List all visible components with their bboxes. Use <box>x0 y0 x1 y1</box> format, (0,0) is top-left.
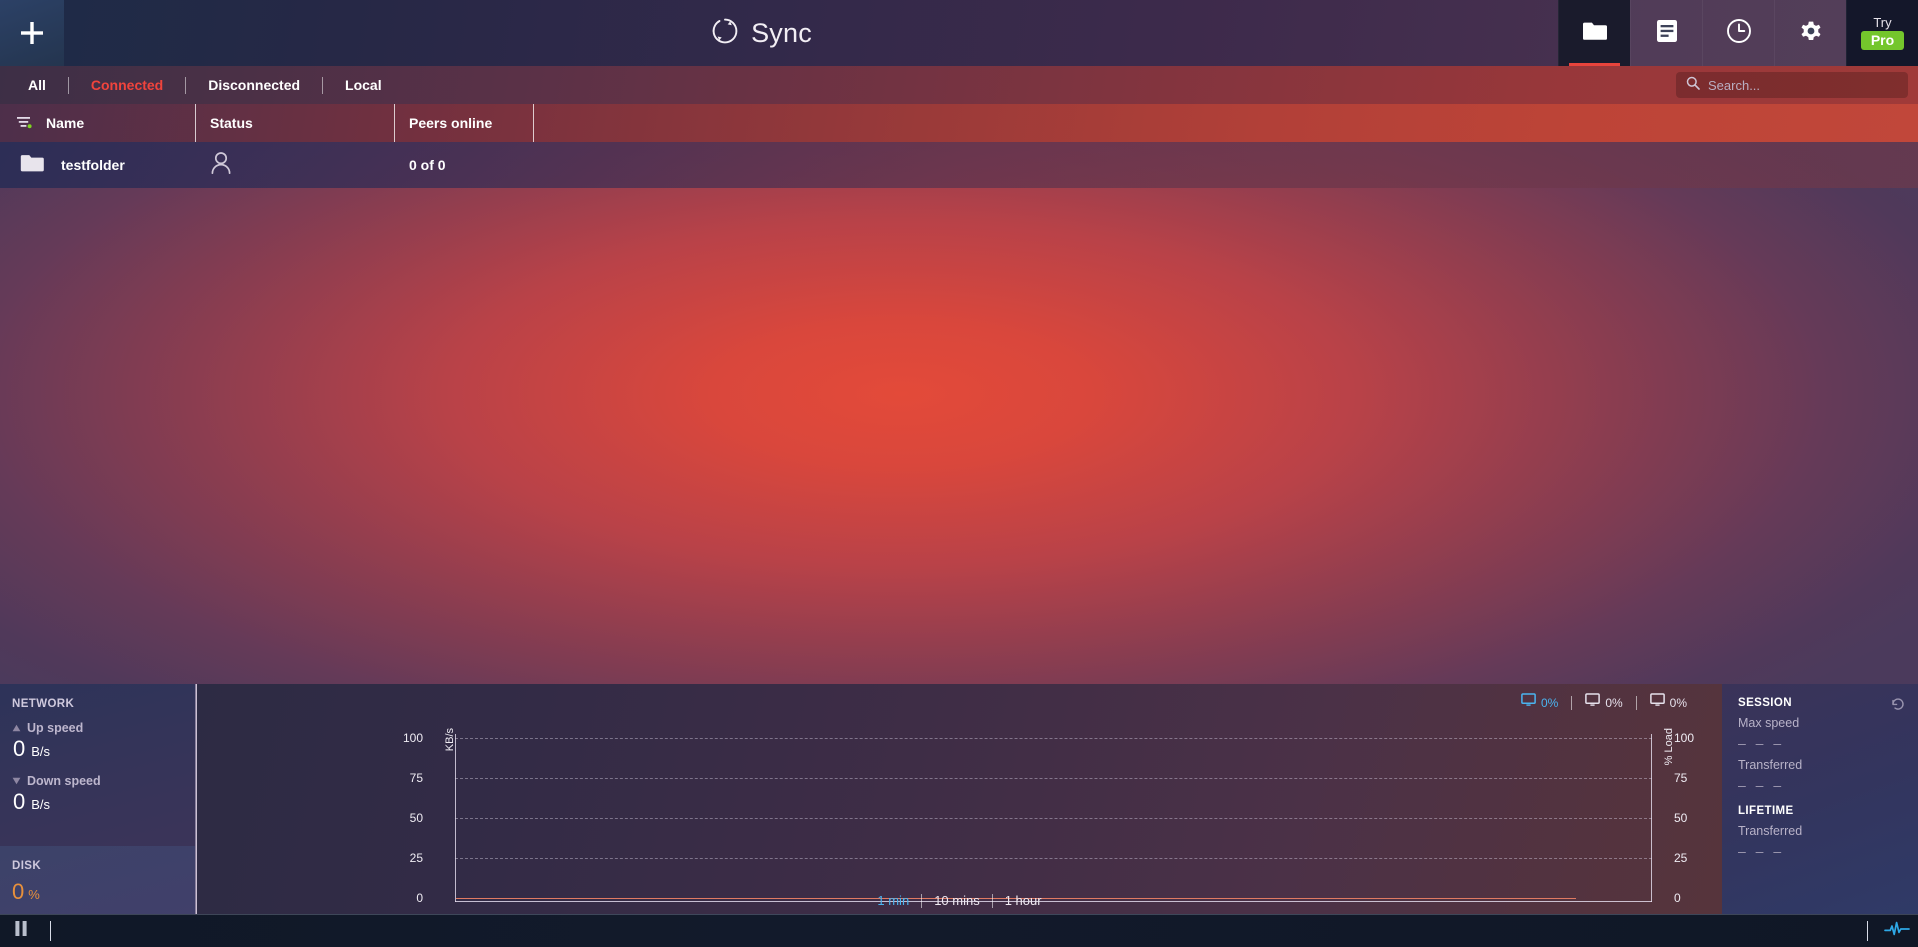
folder-icon <box>1582 20 1607 46</box>
pause-button[interactable] <box>0 915 42 947</box>
person-icon <box>210 151 232 180</box>
lifetime-transferred-label: Transferred <box>1738 824 1904 838</box>
filter-connected[interactable]: Connected <box>69 78 185 92</box>
chart-ytick-right-50: 50 <box>1674 811 1710 825</box>
status-bar-separator <box>1867 921 1868 941</box>
column-header-filler <box>534 104 1918 142</box>
chart-gridline <box>455 738 1652 739</box>
tab-devices[interactable] <box>1630 0 1702 66</box>
down-speed-unit: B/s <box>31 797 50 812</box>
search-input[interactable] <box>1708 78 1898 93</box>
column-header-status[interactable]: Status <box>196 104 395 142</box>
chart-ytick-right-25: 25 <box>1674 851 1710 865</box>
cpu-meter-2[interactable]: 0% <box>1572 693 1635 712</box>
filter-local[interactable]: Local <box>323 78 404 92</box>
disk-unit: % <box>28 887 40 902</box>
pause-icon <box>13 920 29 942</box>
column-header-name-label: Name <box>46 115 84 131</box>
chart-ytick-left-75: 75 <box>387 771 423 785</box>
up-speed-value: 0 B/s <box>12 738 181 760</box>
tab-folders[interactable] <box>1558 0 1630 66</box>
clock-icon <box>1726 18 1752 49</box>
session-title: SESSION <box>1738 697 1904 709</box>
pro-badge: Pro <box>1861 31 1904 50</box>
down-speed-value: 0 B/s <box>12 791 181 813</box>
session-panel: SESSION Max speed – – – Transferred – – … <box>1722 684 1918 914</box>
column-header-peers-label: Peers online <box>409 115 492 131</box>
sort-filter-icon[interactable] <box>16 115 32 132</box>
gear-icon <box>1798 18 1824 49</box>
status-bar-right-group <box>1859 915 1918 947</box>
cpu-meter-1[interactable]: 0% <box>1508 693 1571 712</box>
folder-list-header: Name Status Peers online <box>0 104 1918 142</box>
chart-ytick-left-25: 25 <box>387 851 423 865</box>
disk-title: DISK <box>12 860 181 872</box>
down-speed-row: Down speed <box>12 772 181 790</box>
disk-value: 0 % <box>12 881 181 903</box>
stats-strip: NETWORK Up speed 0 B/s Down speed <box>0 684 1918 914</box>
session-transferred-value: – – – <box>1738 777 1904 793</box>
table-row[interactable]: testfolder 0 of 0 <box>0 142 1918 188</box>
filter-bar: All Connected Disconnected Local <box>0 66 1918 104</box>
main-content-area: Name Status Peers online testfolder <box>0 104 1918 684</box>
reset-arrow-icon[interactable] <box>1890 696 1906 717</box>
column-header-peers-online[interactable]: Peers online <box>395 104 534 142</box>
folder-icon <box>20 153 45 178</box>
chart-ytick-right-75: 75 <box>1674 771 1710 785</box>
activity-graph-button[interactable] <box>1876 915 1918 947</box>
row-name-label: testfolder <box>61 157 125 173</box>
tab-history[interactable] <box>1702 0 1774 66</box>
cpu-meter-3-value: 0% <box>1670 696 1687 710</box>
up-speed-unit: B/s <box>31 744 50 759</box>
top-toolbar: Try Pro <box>1558 0 1918 66</box>
chart-right-axis <box>1651 734 1652 902</box>
session-max-speed-value: – – – <box>1738 735 1904 751</box>
disk-number: 0 <box>12 881 24 903</box>
row-name-cell: testfolder <box>0 153 196 178</box>
disk-section: DISK 0 % <box>0 846 195 914</box>
time-range-1hour[interactable]: 1 hour <box>993 893 1054 908</box>
up-speed-row: Up speed <box>12 719 181 737</box>
lifetime-transferred-value: – – – <box>1738 843 1904 859</box>
network-chart-panel: 0% 0% <box>196 684 1722 914</box>
triangle-down-icon <box>12 772 21 790</box>
session-transferred-label: Transferred <box>1738 758 1904 772</box>
filter-disconnected[interactable]: Disconnected <box>186 78 322 92</box>
network-title: NETWORK <box>12 698 181 710</box>
chart-gridline <box>455 818 1652 819</box>
session-spacer <box>1738 793 1904 805</box>
sync-circular-arrows-icon <box>710 16 740 51</box>
activity-graph-icon <box>1884 921 1910 942</box>
time-range-selector: 1 min 10 mins 1 hour <box>197 893 1722 908</box>
try-pro-button[interactable]: Try Pro <box>1846 0 1918 66</box>
sync-application-window: Sync <box>0 0 1918 947</box>
up-speed-label: Up speed <box>27 721 83 735</box>
app-brand: Sync <box>0 0 1558 66</box>
monitor-icon <box>1585 693 1600 712</box>
row-peers-online: 0 of 0 <box>395 157 534 173</box>
filter-group: All Connected Disconnected Local <box>0 77 404 94</box>
status-bar-separator <box>50 921 51 941</box>
column-header-status-label: Status <box>210 115 253 131</box>
chart-gridline <box>455 778 1652 779</box>
cpu-meter-1-value: 0% <box>1541 696 1558 710</box>
lifetime-title: LIFETIME <box>1738 805 1904 817</box>
status-bar <box>0 914 1918 947</box>
top-bar: Sync <box>0 0 1918 66</box>
try-pro-label: Try <box>1873 16 1891 29</box>
time-range-10mins[interactable]: 10 mins <box>922 893 992 908</box>
column-header-name[interactable]: Name <box>0 104 196 142</box>
down-speed-number: 0 <box>13 791 25 813</box>
down-speed-label: Down speed <box>27 774 101 788</box>
throughput-chart: KB/s % Load 100 75 50 25 0 100 75 50 25 … <box>197 716 1722 914</box>
app-title: Sync <box>751 18 812 49</box>
monitor-icon <box>1650 693 1665 712</box>
cpu-meters: 0% 0% <box>1508 693 1700 712</box>
chart-ytick-left-100: 100 <box>387 731 423 745</box>
tab-settings[interactable] <box>1774 0 1846 66</box>
row-status-cell <box>196 151 395 180</box>
search-box[interactable] <box>1676 72 1908 98</box>
cpu-meter-3[interactable]: 0% <box>1637 693 1700 712</box>
network-section: NETWORK Up speed 0 B/s Down speed <box>0 684 195 846</box>
up-speed-number: 0 <box>13 738 25 760</box>
time-range-1min[interactable]: 1 min <box>865 893 921 908</box>
filter-all[interactable]: All <box>6 78 68 92</box>
chart-ytick-right-100: 100 <box>1674 731 1710 745</box>
session-max-speed-label: Max speed <box>1738 716 1904 730</box>
chart-left-axis <box>455 734 456 902</box>
chart-gridline <box>455 858 1652 859</box>
network-panel: NETWORK Up speed 0 B/s Down speed <box>0 684 196 914</box>
monitor-icon <box>1521 693 1536 712</box>
document-list-icon <box>1656 19 1678 48</box>
cpu-meter-2-value: 0% <box>1605 696 1622 710</box>
triangle-up-icon <box>12 719 21 737</box>
chart-ytick-left-50: 50 <box>387 811 423 825</box>
search-icon <box>1686 76 1700 95</box>
